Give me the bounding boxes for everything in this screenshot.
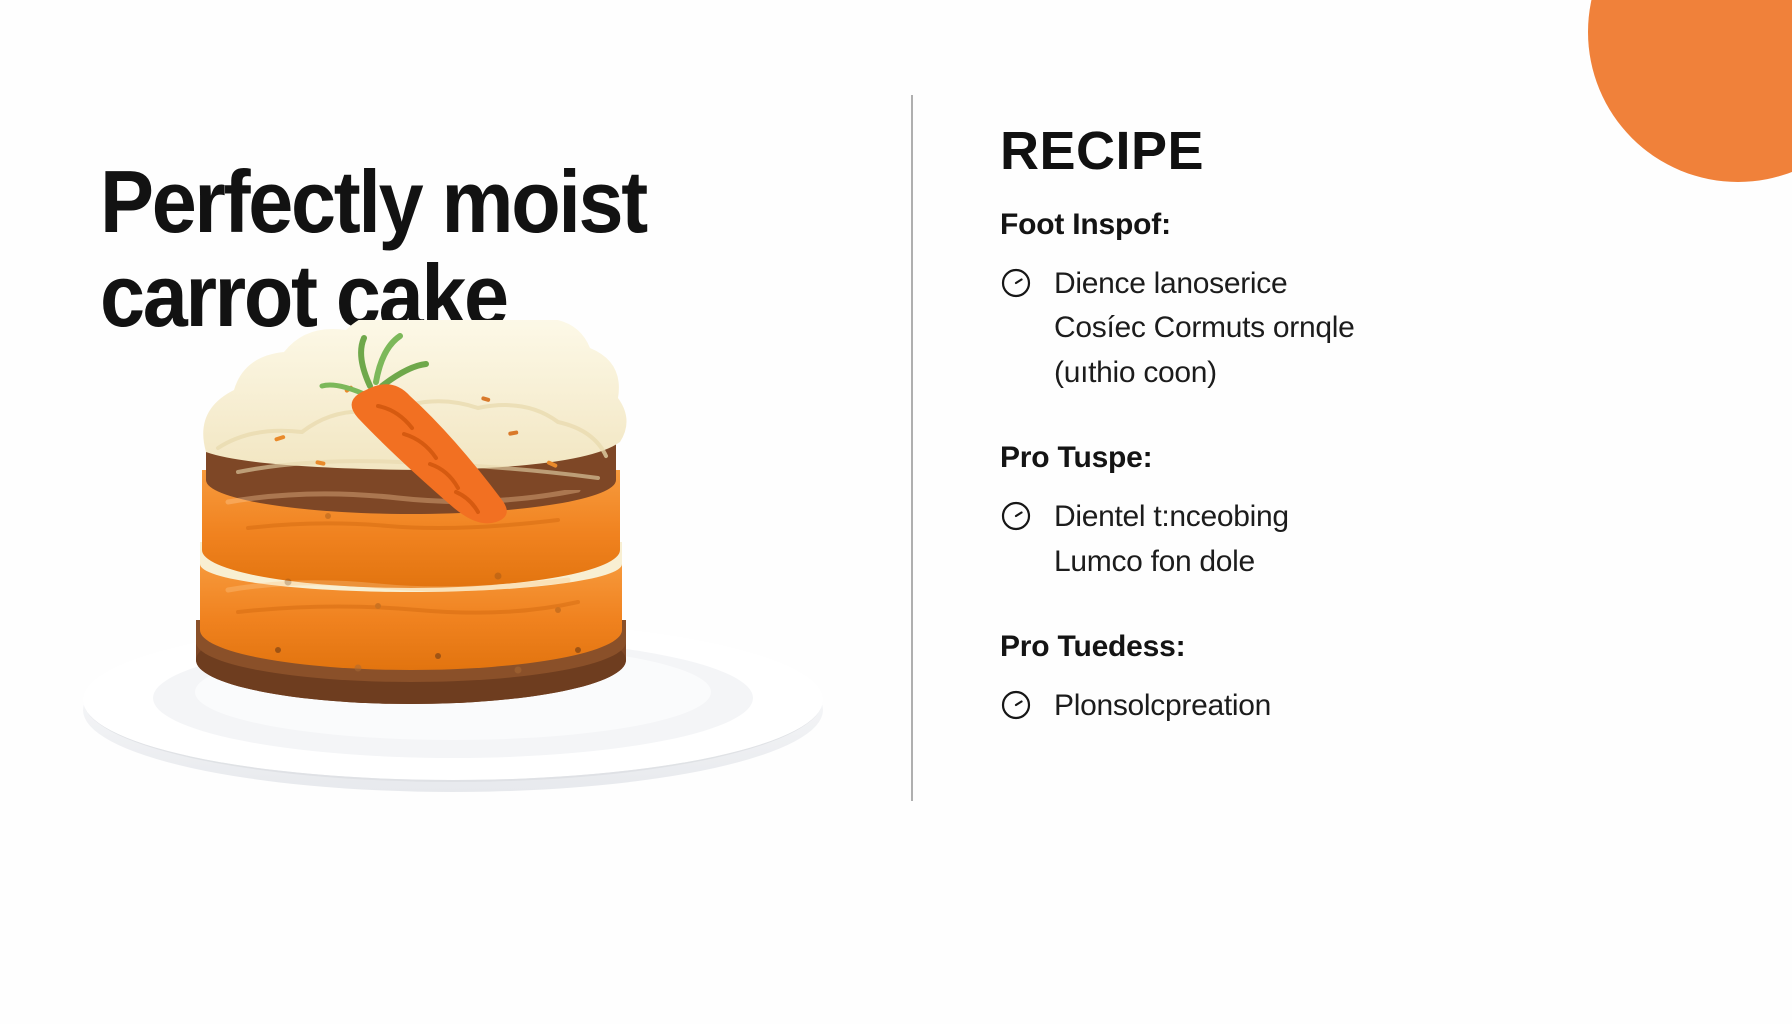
right-column: RECIPE Foot Inspof: Dience lanoserice Co…	[1000, 0, 1720, 1024]
list-item: Plonsolcpreation	[1000, 684, 1700, 728]
list-item-text: Dience lanoserice Cosíec Cormuts ornqle …	[1054, 262, 1354, 395]
section-heading-2: Pro Tuspe:	[1000, 441, 1700, 475]
bullet-line: (uıthio coon)	[1054, 356, 1217, 389]
clock-circle-icon	[1000, 267, 1032, 299]
recipe-sections: Foot Inspof: Dience lanoserice Cosíec Co…	[1000, 208, 1700, 762]
bullet-line: Dientel t:nceobing	[1054, 500, 1289, 533]
bullet-line: Plonsolcpreation	[1054, 689, 1271, 722]
left-column: Perfectly moist carrot cake	[0, 0, 910, 1024]
carrot-cake-illustration	[78, 320, 868, 800]
cake-body	[196, 440, 626, 704]
recipe-section-2: Pro Tuspe: Dientel t:nceobing Lumco fon …	[1000, 441, 1700, 584]
clock-circle-icon	[1000, 500, 1032, 532]
recipe-section-1: Foot Inspof: Dience lanoserice Cosíec Co…	[1000, 208, 1700, 395]
column-divider	[911, 95, 913, 801]
list-item-text: Dientel t:nceobing Lumco fon dole	[1054, 495, 1289, 584]
recipe-section-3: Pro Tuedess: Plonsolcpreation	[1000, 630, 1700, 728]
section-heading-3: Pro Tuedess:	[1000, 630, 1700, 664]
clock-circle-icon	[1000, 689, 1032, 721]
poster-canvas: Perfectly moist carrot cake	[0, 0, 1792, 1024]
page-title: Perfectly moist carrot cake	[100, 155, 818, 343]
headline-line-1: Perfectly moist	[100, 152, 646, 251]
bullet-line: Lumco fon dole	[1054, 545, 1255, 578]
list-item: Dientel t:nceobing Lumco fon dole	[1000, 495, 1700, 584]
bullet-line: Cosíec Cormuts ornqle	[1054, 311, 1354, 344]
section-heading-1: Foot Inspof:	[1000, 208, 1700, 242]
list-item-text: Plonsolcpreation	[1054, 684, 1271, 728]
recipe-heading: RECIPE	[1000, 120, 1204, 182]
list-item: Dience lanoserice Cosíec Cormuts ornqle …	[1000, 262, 1700, 395]
bullet-line: Dience lanoserice	[1054, 267, 1287, 300]
